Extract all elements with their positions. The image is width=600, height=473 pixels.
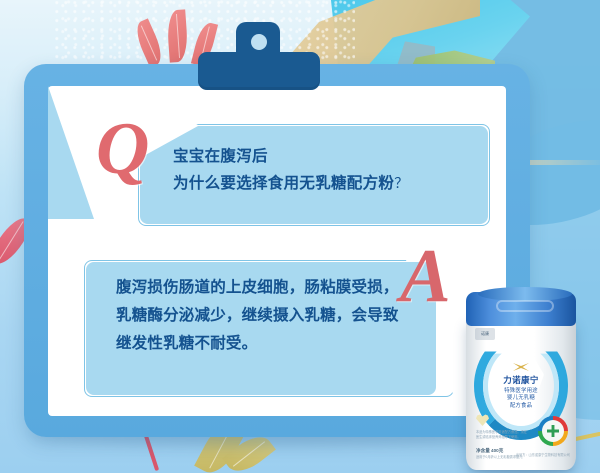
clipboard-hole xyxy=(251,34,267,50)
poster-canvas: Q 宝宝在腹泻后 为什么要选择食用无乳糖配方粉？ A 腹泻损伤肠道的上皮细胞，肠… xyxy=(0,0,600,473)
question-line-1: 宝宝在腹泻后 xyxy=(173,144,473,170)
can-seal-inner xyxy=(542,420,564,442)
leaf-vein xyxy=(175,14,179,58)
leaf-vein xyxy=(0,221,23,260)
can-lid-rim xyxy=(478,287,572,301)
can-manufacturer: 出品方：山东诺康宁生物科技有限公司 xyxy=(516,452,570,457)
question-line-2: 为什么要选择食用无乳糖配方粉 xyxy=(173,175,394,192)
can-net-weight-value: 净含量 400克 xyxy=(476,448,503,453)
can-subtitle: 特殊医学用途 婴儿无乳糖 配方食品 xyxy=(466,388,576,410)
product-can: 诺康 力诺康宁 特殊医学用途 婴儿无乳糖 配方食品 本品为特殊医学用途配方食品，… xyxy=(462,292,580,473)
can-subtitle-line-3: 配方食品 xyxy=(466,403,576,410)
can-brand-name: 力诺康宁 xyxy=(466,374,576,386)
content-page: Q 宝宝在腹泻后 为什么要选择食用无乳糖配方粉？ A 腹泻损伤肠道的上皮细胞，肠… xyxy=(48,86,506,416)
question-mark: ？ xyxy=(394,175,408,191)
can-certification-seal xyxy=(538,416,568,446)
can-fineprint: 本品为特殊医学用途配方食品，须在医生或临床营养师指导下使用。 xyxy=(476,430,530,439)
clipboard-clip-bar xyxy=(198,52,320,90)
can-body: 诺康 力诺康宁 特殊医学用途 婴儿无乳糖 配方食品 本品为特殊医学用途配方食品，… xyxy=(466,318,576,470)
clipboard-board: Q 宝宝在腹泻后 为什么要选择食用无乳糖配方粉？ A 腹泻损伤肠道的上皮细胞，肠… xyxy=(24,64,530,437)
can-lid xyxy=(466,292,576,326)
can-lid-handle xyxy=(496,300,554,312)
answer-text: 腹泻损伤肠道的上皮细胞，肠粘膜受损，乳糖酶分泌减少，继续摄入乳糖，会导致继发性乳… xyxy=(116,274,412,358)
question-text: 宝宝在腹泻后 为什么要选择食用无乳糖配方粉？ xyxy=(173,144,473,197)
question-line-2-wrap: 为什么要选择食用无乳糖配方粉？ xyxy=(173,170,473,197)
can-subtitle-line-2: 婴儿无乳糖 xyxy=(466,395,576,402)
medical-cross-icon xyxy=(547,425,559,437)
question-marker-q: Q xyxy=(96,112,149,186)
answer-bubble-notch xyxy=(48,86,94,219)
qa-section: Q 宝宝在腹泻后 为什么要选择食用无乳糖配方粉？ A 腹泻损伤肠道的上皮细胞，肠… xyxy=(48,86,506,416)
